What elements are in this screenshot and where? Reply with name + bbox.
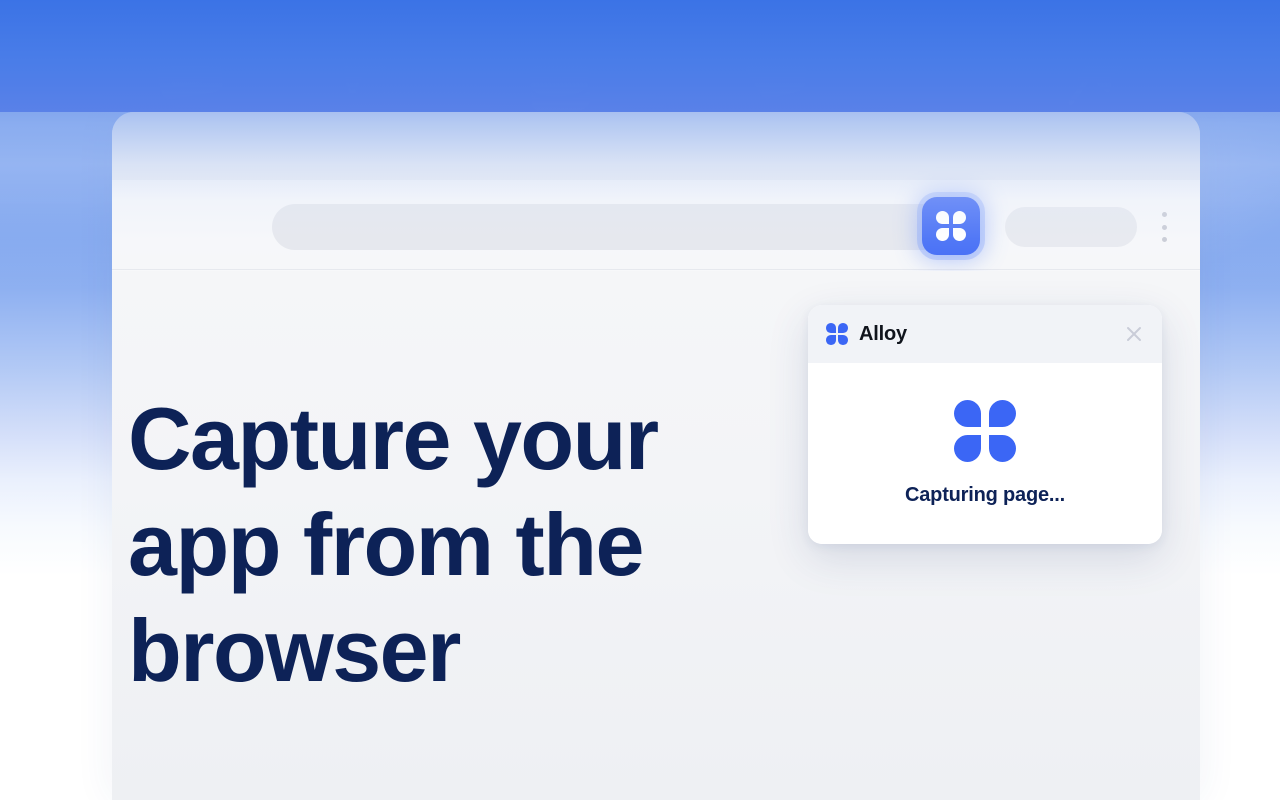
extension-popup: Alloy Capturing page... bbox=[808, 305, 1162, 544]
popup-body: Capturing page... bbox=[808, 363, 1162, 544]
browser-menu-icon[interactable] bbox=[1161, 212, 1167, 242]
browser-tabstrip bbox=[112, 112, 1200, 180]
url-input[interactable] bbox=[272, 204, 952, 250]
page-title: Capture your app from the browser bbox=[128, 386, 748, 704]
headline-line-1: Capture your bbox=[128, 386, 748, 492]
headline-line-2: app from the bbox=[128, 492, 748, 598]
alloy-logo-icon bbox=[826, 323, 848, 345]
alloy-logo-large-icon bbox=[954, 400, 1016, 462]
popup-title: Alloy bbox=[859, 323, 907, 346]
close-icon[interactable] bbox=[1122, 322, 1146, 346]
profile-pill[interactable] bbox=[1005, 207, 1137, 247]
alloy-extension-button[interactable] bbox=[922, 197, 980, 255]
headline-line-3: browser bbox=[128, 598, 748, 704]
alloy-logo-icon bbox=[936, 211, 966, 241]
screenshot-root: Capture your app from the browser Alloy … bbox=[0, 0, 1280, 800]
browser-toolbar bbox=[112, 180, 1200, 270]
status-text: Capturing page... bbox=[905, 484, 1065, 507]
popup-header: Alloy bbox=[808, 305, 1162, 363]
